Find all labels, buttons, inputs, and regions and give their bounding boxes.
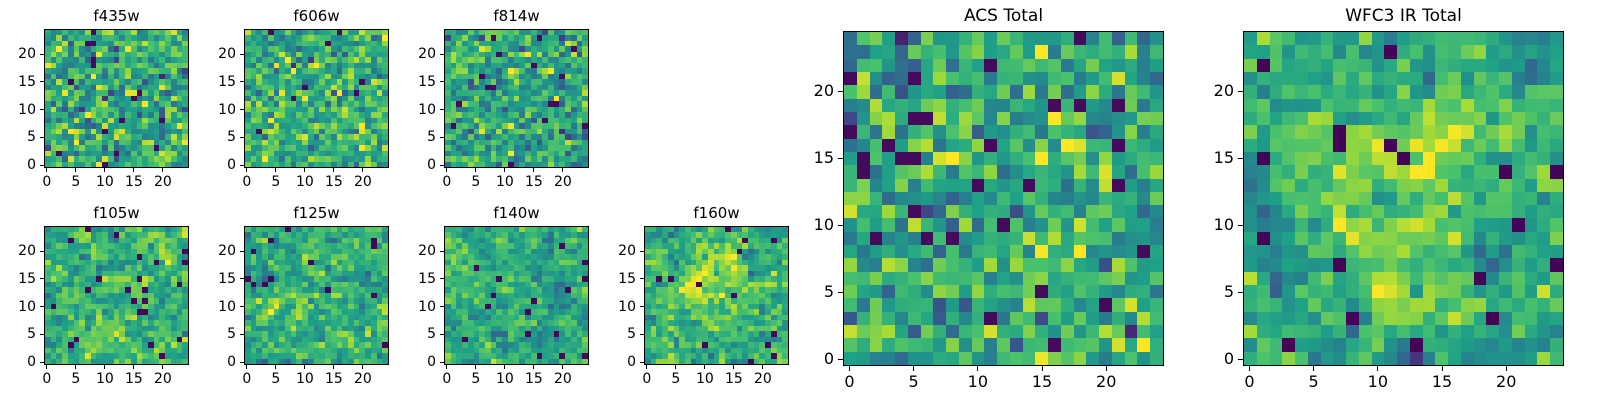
y-ticklabel-f606w-0: 0 (227, 158, 236, 172)
panel-title-f606w: f606w (244, 9, 389, 24)
y-tick-f814w-0 (440, 165, 444, 166)
x-tick-wfc3-ir-total-15 (1442, 366, 1443, 371)
y-tick-f435w-20 (40, 54, 44, 55)
y-ticklabel-f606w-5: 5 (227, 130, 236, 144)
y-tick-f125w-20 (240, 251, 244, 252)
y-tick-f105w-5 (40, 334, 44, 335)
y-tick-f160w-5 (640, 334, 644, 335)
x-ticklabel-f160w-0: 0 (642, 372, 651, 386)
x-tick-f160w-10 (704, 365, 705, 369)
axes-frame-f140w (444, 226, 589, 365)
heatmap-f140w (445, 227, 588, 364)
y-tick-f105w-15 (40, 278, 44, 279)
y-ticklabel-f606w-15: 15 (218, 75, 236, 89)
x-tick-f125w-0 (246, 365, 247, 369)
heatmap-f105w (45, 227, 188, 364)
y-tick-f125w-0 (240, 362, 244, 363)
x-tick-f140w-10 (504, 365, 505, 369)
y-ticklabel-f125w-0: 0 (227, 355, 236, 369)
x-ticklabel-acs-total-10: 10 (968, 374, 988, 390)
panel-wfc3-ir-total: WFC3 IR Total0510152005101520 (1243, 31, 1564, 366)
y-tick-f125w-15 (240, 278, 244, 279)
y-ticklabel-acs-total-10: 10 (814, 217, 834, 233)
x-tick-f160w-0 (646, 365, 647, 369)
y-ticklabel-wfc3-ir-total-20: 20 (1214, 83, 1234, 99)
x-ticklabel-f435w-0: 0 (42, 175, 51, 189)
x-ticklabel-f140w-10: 10 (496, 372, 514, 386)
x-tick-f160w-15 (733, 365, 734, 369)
x-ticklabel-f160w-5: 5 (671, 372, 680, 386)
x-ticklabel-wfc3-ir-total-10: 10 (1368, 374, 1388, 390)
x-ticklabel-f435w-5: 5 (71, 175, 80, 189)
x-tick-wfc3-ir-total-10 (1377, 366, 1378, 371)
heatmap-f160w (645, 227, 788, 364)
y-tick-f160w-10 (640, 306, 644, 307)
x-ticklabel-f125w-15: 15 (325, 372, 343, 386)
x-ticklabel-f814w-5: 5 (471, 175, 480, 189)
x-ticklabel-wfc3-ir-total-5: 5 (1309, 374, 1319, 390)
x-ticklabel-f125w-0: 0 (242, 372, 251, 386)
y-tick-wfc3-ir-total-10 (1238, 225, 1243, 226)
y-tick-f435w-5 (40, 137, 44, 138)
y-tick-wfc3-ir-total-20 (1238, 91, 1243, 92)
y-ticklabel-f814w-15: 15 (418, 75, 436, 89)
x-tick-f814w-0 (446, 168, 447, 172)
y-tick-acs-total-0 (838, 359, 843, 360)
x-tick-f435w-20 (162, 168, 163, 172)
panel-f606w: f606w0510152005101520 (244, 29, 389, 168)
x-ticklabel-f435w-20: 20 (154, 175, 172, 189)
y-tick-wfc3-ir-total-5 (1238, 292, 1243, 293)
x-ticklabel-wfc3-ir-total-0: 0 (1244, 374, 1254, 390)
x-ticklabel-acs-total-20: 20 (1096, 374, 1116, 390)
figure-canvas: f435w0510152005101520f606w05101520051015… (0, 0, 1600, 400)
y-ticklabel-acs-total-0: 0 (824, 351, 834, 367)
x-tick-f606w-15 (333, 168, 334, 172)
panel-title-acs-total: ACS Total (843, 8, 1164, 25)
x-tick-acs-total-15 (1042, 366, 1043, 371)
y-tick-f105w-10 (40, 306, 44, 307)
x-ticklabel-f606w-20: 20 (354, 175, 372, 189)
x-tick-f105w-0 (46, 365, 47, 369)
y-tick-acs-total-10 (838, 225, 843, 226)
x-tick-wfc3-ir-total-20 (1506, 366, 1507, 371)
x-tick-wfc3-ir-total-0 (1249, 366, 1250, 371)
x-ticklabel-f606w-5: 5 (271, 175, 280, 189)
y-tick-f435w-15 (40, 81, 44, 82)
x-ticklabel-f140w-20: 20 (554, 372, 572, 386)
y-ticklabel-f435w-10: 10 (18, 103, 36, 117)
y-tick-f435w-10 (40, 109, 44, 110)
x-ticklabel-f105w-5: 5 (71, 372, 80, 386)
heatmap-f125w (245, 227, 388, 364)
x-ticklabel-f105w-20: 20 (154, 372, 172, 386)
x-tick-f105w-5 (75, 365, 76, 369)
axes-frame-acs-total (843, 31, 1164, 366)
axes-frame-f435w (44, 29, 189, 168)
y-ticklabel-f814w-0: 0 (427, 158, 436, 172)
x-tick-f606w-5 (275, 168, 276, 172)
panel-title-f435w: f435w (44, 9, 189, 24)
x-ticklabel-f105w-10: 10 (96, 372, 114, 386)
y-tick-f606w-20 (240, 54, 244, 55)
y-tick-acs-total-5 (838, 292, 843, 293)
x-ticklabel-f140w-15: 15 (525, 372, 543, 386)
y-ticklabel-f140w-5: 5 (427, 327, 436, 341)
panel-f435w: f435w0510152005101520 (44, 29, 189, 168)
panel-f125w: f125w0510152005101520 (244, 226, 389, 365)
x-ticklabel-f606w-0: 0 (242, 175, 251, 189)
x-ticklabel-f814w-0: 0 (442, 175, 451, 189)
y-ticklabel-f125w-15: 15 (218, 272, 236, 286)
y-tick-f606w-10 (240, 109, 244, 110)
y-ticklabel-f140w-10: 10 (418, 300, 436, 314)
axes-frame-f160w (644, 226, 789, 365)
y-ticklabel-wfc3-ir-total-10: 10 (1214, 217, 1234, 233)
x-tick-acs-total-0 (849, 366, 850, 371)
x-tick-f435w-0 (46, 168, 47, 172)
x-ticklabel-f125w-5: 5 (271, 372, 280, 386)
x-ticklabel-f814w-10: 10 (496, 175, 514, 189)
y-ticklabel-f140w-0: 0 (427, 355, 436, 369)
axes-frame-f814w (444, 29, 589, 168)
y-tick-f814w-10 (440, 109, 444, 110)
x-tick-f606w-20 (362, 168, 363, 172)
x-tick-f160w-20 (762, 365, 763, 369)
y-ticklabel-f140w-15: 15 (418, 272, 436, 286)
y-ticklabel-f160w-15: 15 (618, 272, 636, 286)
y-ticklabel-acs-total-20: 20 (814, 83, 834, 99)
x-tick-f105w-20 (162, 365, 163, 369)
x-tick-f105w-10 (104, 365, 105, 369)
x-ticklabel-f160w-10: 10 (696, 372, 714, 386)
axes-frame-f125w (244, 226, 389, 365)
y-tick-f435w-0 (40, 165, 44, 166)
x-tick-acs-total-10 (977, 366, 978, 371)
y-tick-f105w-20 (40, 251, 44, 252)
panel-title-f105w: f105w (44, 206, 189, 221)
x-tick-f606w-10 (304, 168, 305, 172)
y-ticklabel-f606w-10: 10 (218, 103, 236, 117)
panel-f105w: f105w0510152005101520 (44, 226, 189, 365)
y-ticklabel-acs-total-5: 5 (824, 284, 834, 300)
x-tick-f125w-15 (333, 365, 334, 369)
y-ticklabel-f435w-20: 20 (18, 47, 36, 61)
y-tick-f606w-15 (240, 81, 244, 82)
y-tick-f160w-0 (640, 362, 644, 363)
x-tick-f125w-10 (304, 365, 305, 369)
x-ticklabel-f140w-5: 5 (471, 372, 480, 386)
y-ticklabel-f160w-5: 5 (627, 327, 636, 341)
x-ticklabel-f435w-10: 10 (96, 175, 114, 189)
y-tick-acs-total-15 (838, 158, 843, 159)
x-ticklabel-f105w-15: 15 (125, 372, 143, 386)
x-ticklabel-f105w-0: 0 (42, 372, 51, 386)
y-ticklabel-f125w-5: 5 (227, 327, 236, 341)
y-ticklabel-f125w-10: 10 (218, 300, 236, 314)
y-tick-f140w-5 (440, 334, 444, 335)
y-ticklabel-f435w-15: 15 (18, 75, 36, 89)
y-tick-f140w-0 (440, 362, 444, 363)
heatmap-f814w (445, 30, 588, 167)
y-ticklabel-f160w-0: 0 (627, 355, 636, 369)
x-ticklabel-f606w-10: 10 (296, 175, 314, 189)
panel-f140w: f140w0510152005101520 (444, 226, 589, 365)
x-ticklabel-f160w-20: 20 (754, 372, 772, 386)
panel-title-f160w: f160w (644, 206, 789, 221)
panel-title-f125w: f125w (244, 206, 389, 221)
heatmap-wfc3-ir-total (1244, 32, 1563, 365)
x-ticklabel-f814w-20: 20 (554, 175, 572, 189)
heatmap-f606w (245, 30, 388, 167)
y-tick-f140w-10 (440, 306, 444, 307)
x-ticklabel-f125w-10: 10 (296, 372, 314, 386)
y-ticklabel-wfc3-ir-total-5: 5 (1224, 284, 1234, 300)
y-tick-f160w-20 (640, 251, 644, 252)
y-ticklabel-f606w-20: 20 (218, 47, 236, 61)
y-ticklabel-f105w-10: 10 (18, 300, 36, 314)
y-tick-f140w-20 (440, 251, 444, 252)
y-ticklabel-f814w-5: 5 (427, 130, 436, 144)
heatmap-acs-total (844, 32, 1163, 365)
panel-title-wfc3-ir-total: WFC3 IR Total (1243, 8, 1564, 25)
panel-acs-total: ACS Total0510152005101520 (843, 31, 1164, 366)
x-tick-f160w-5 (675, 365, 676, 369)
y-ticklabel-f160w-10: 10 (618, 300, 636, 314)
x-tick-f140w-0 (446, 365, 447, 369)
panel-f814w: f814w0510152005101520 (444, 29, 589, 168)
x-ticklabel-acs-total-15: 15 (1032, 374, 1052, 390)
y-tick-acs-total-20 (838, 91, 843, 92)
y-ticklabel-f140w-20: 20 (418, 244, 436, 258)
x-tick-f814w-5 (475, 168, 476, 172)
y-tick-wfc3-ir-total-0 (1238, 359, 1243, 360)
panel-title-f814w: f814w (444, 9, 589, 24)
y-ticklabel-f435w-0: 0 (27, 158, 36, 172)
y-ticklabel-f814w-20: 20 (418, 47, 436, 61)
axes-frame-f606w (244, 29, 389, 168)
y-ticklabel-acs-total-15: 15 (814, 150, 834, 166)
x-ticklabel-wfc3-ir-total-15: 15 (1432, 374, 1452, 390)
axes-frame-wfc3-ir-total (1243, 31, 1564, 366)
y-ticklabel-wfc3-ir-total-0: 0 (1224, 351, 1234, 367)
x-tick-acs-total-20 (1106, 366, 1107, 371)
x-ticklabel-f606w-15: 15 (325, 175, 343, 189)
x-ticklabel-f160w-15: 15 (725, 372, 743, 386)
y-tick-f125w-10 (240, 306, 244, 307)
x-ticklabel-f140w-0: 0 (442, 372, 451, 386)
x-ticklabel-f814w-15: 15 (525, 175, 543, 189)
y-tick-f814w-15 (440, 81, 444, 82)
axes-frame-f105w (44, 226, 189, 365)
y-ticklabel-f105w-20: 20 (18, 244, 36, 258)
y-ticklabel-f105w-15: 15 (18, 272, 36, 286)
y-tick-f606w-0 (240, 165, 244, 166)
x-ticklabel-wfc3-ir-total-20: 20 (1496, 374, 1516, 390)
y-tick-f814w-20 (440, 54, 444, 55)
y-tick-f814w-5 (440, 137, 444, 138)
x-tick-f105w-15 (133, 365, 134, 369)
x-tick-f140w-20 (562, 365, 563, 369)
y-ticklabel-f105w-5: 5 (27, 327, 36, 341)
x-tick-wfc3-ir-total-5 (1313, 366, 1314, 371)
x-ticklabel-f435w-15: 15 (125, 175, 143, 189)
y-tick-f125w-5 (240, 334, 244, 335)
x-ticklabel-acs-total-0: 0 (844, 374, 854, 390)
y-tick-f606w-5 (240, 137, 244, 138)
y-tick-f160w-15 (640, 278, 644, 279)
y-ticklabel-f435w-5: 5 (27, 130, 36, 144)
y-ticklabel-f814w-10: 10 (418, 103, 436, 117)
x-tick-f125w-5 (275, 365, 276, 369)
y-tick-wfc3-ir-total-15 (1238, 158, 1243, 159)
panel-f160w: f160w0510152005101520 (644, 226, 789, 365)
x-tick-f435w-10 (104, 168, 105, 172)
y-ticklabel-f160w-20: 20 (618, 244, 636, 258)
heatmap-f435w (45, 30, 188, 167)
x-tick-f140w-15 (533, 365, 534, 369)
x-tick-f814w-20 (562, 168, 563, 172)
x-tick-f606w-0 (246, 168, 247, 172)
y-ticklabel-f125w-20: 20 (218, 244, 236, 258)
x-tick-f140w-5 (475, 365, 476, 369)
y-ticklabel-f105w-0: 0 (27, 355, 36, 369)
x-ticklabel-f125w-20: 20 (354, 372, 372, 386)
x-tick-f435w-5 (75, 168, 76, 172)
x-tick-f814w-10 (504, 168, 505, 172)
y-tick-f105w-0 (40, 362, 44, 363)
x-tick-f435w-15 (133, 168, 134, 172)
panel-title-f140w: f140w (444, 206, 589, 221)
y-tick-f140w-15 (440, 278, 444, 279)
x-tick-f814w-15 (533, 168, 534, 172)
x-tick-f125w-20 (362, 365, 363, 369)
x-ticklabel-acs-total-5: 5 (909, 374, 919, 390)
x-tick-acs-total-5 (913, 366, 914, 371)
y-ticklabel-wfc3-ir-total-15: 15 (1214, 150, 1234, 166)
